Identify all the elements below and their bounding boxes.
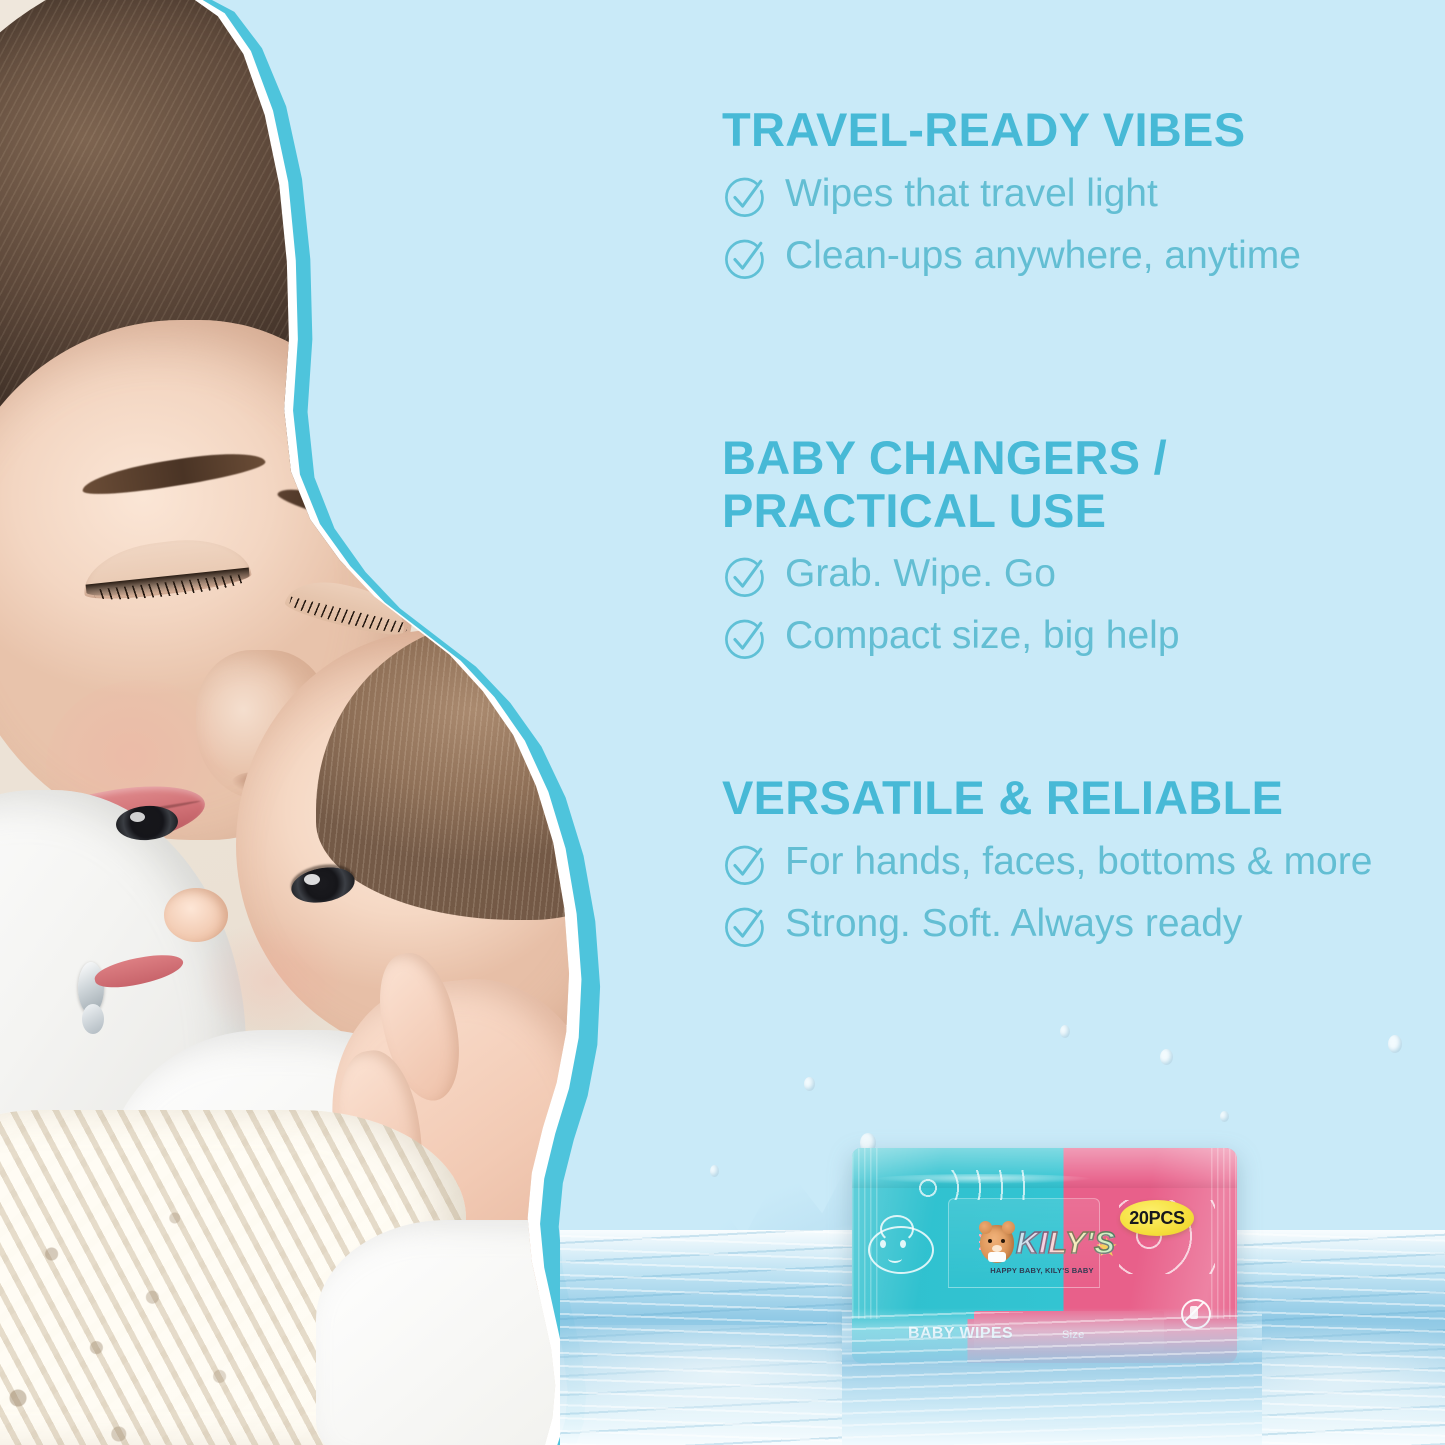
product-pack: ★ KILY'S HAPPY BABY, KILY'S BABY 20PCS B… — [852, 1148, 1237, 1363]
water-droplet — [710, 1165, 719, 1177]
check-circle-icon — [722, 237, 768, 283]
pack-size-label: Size — [1062, 1329, 1085, 1341]
section-heading: BABY CHANGERS / PRACTICAL USE — [722, 432, 1422, 537]
do-not-flush-icon — [1181, 1299, 1211, 1329]
water-droplet — [1160, 1049, 1173, 1065]
list-item: Clean-ups anywhere, anytime — [722, 233, 1422, 283]
cloud-face-mouth — [888, 1254, 902, 1263]
teddy-bear-icon — [980, 1225, 1014, 1263]
baby-eye-highlight-right — [304, 874, 320, 885]
list-item: For hands, faces, bottoms & more — [722, 839, 1422, 889]
bear-eye-right — [1001, 1239, 1005, 1243]
baby-nose — [164, 888, 228, 942]
list-item-label: Wipes that travel light — [785, 171, 1158, 217]
bullet-list: For hands, faces, bottoms & more Strong.… — [722, 839, 1422, 951]
check-circle-icon — [722, 617, 768, 663]
bear-eye-left — [988, 1239, 992, 1243]
bear-bib — [988, 1252, 1006, 1262]
count-badge: 20PCS — [1120, 1200, 1194, 1236]
list-item-label: Clean-ups anywhere, anytime — [785, 233, 1301, 279]
cloud-doodle-icon — [916, 1170, 1026, 1200]
water-droplet — [1220, 1111, 1229, 1122]
list-item: Grab. Wipe. Go — [722, 551, 1422, 601]
bullet-list: Wipes that travel light Clean-ups anywhe… — [722, 171, 1422, 283]
do-not-flush-figure — [1190, 1306, 1198, 1319]
brand-name: KILY'S — [1016, 1222, 1115, 1264]
brand-tagline: HAPPY BABY, KILY'S BABY — [982, 1266, 1102, 1275]
pack-body: ★ KILY'S HAPPY BABY, KILY'S BABY 20PCS B… — [852, 1148, 1237, 1363]
water-droplet — [804, 1077, 815, 1091]
bullet-list: Grab. Wipe. Go Compact size, big help — [722, 551, 1422, 663]
check-circle-icon — [722, 843, 768, 889]
brand-logo: KILY'S — [980, 1222, 1102, 1266]
feature-section-versatile-reliable: VERSATILE & RELIABLE For hands, faces, b… — [722, 772, 1422, 951]
water-droplet — [1388, 1035, 1402, 1053]
product-type-label: BABY WIPES — [908, 1325, 1013, 1343]
pack-lid-fold — [852, 1148, 1237, 1188]
list-item: Compact size, big help — [722, 613, 1422, 663]
check-circle-icon — [722, 905, 768, 951]
baby-eye-highlight-left — [130, 812, 145, 822]
feature-section-travel-ready-vibes: TRAVEL-READY VIBES Wipes that travel lig… — [722, 104, 1422, 283]
check-circle-icon — [722, 555, 768, 601]
list-item: Wipes that travel light — [722, 171, 1422, 221]
mother-earring-lower — [82, 1004, 104, 1034]
list-item-label: For hands, faces, bottoms & more — [785, 839, 1372, 885]
section-heading: VERSATILE & RELIABLE — [722, 772, 1422, 825]
list-item-label: Compact size, big help — [785, 613, 1180, 659]
list-item-label: Strong. Soft. Always ready — [785, 901, 1242, 947]
feature-section-baby-changers-practical-use: BABY CHANGERS / PRACTICAL USE Grab. Wipe… — [722, 432, 1422, 663]
baby-cheek — [196, 920, 346, 1040]
section-heading: TRAVEL-READY VIBES — [722, 104, 1422, 157]
count-badge-label: 20PCS — [1129, 1208, 1185, 1229]
bear-snout — [992, 1245, 1002, 1252]
water-droplet — [1060, 1025, 1070, 1038]
product-infographic-canvas: TRAVEL-READY VIBES Wipes that travel lig… — [0, 0, 1445, 1445]
list-item-label: Grab. Wipe. Go — [785, 551, 1056, 597]
list-item: Strong. Soft. Always ready — [722, 901, 1422, 951]
check-circle-icon — [722, 175, 768, 221]
